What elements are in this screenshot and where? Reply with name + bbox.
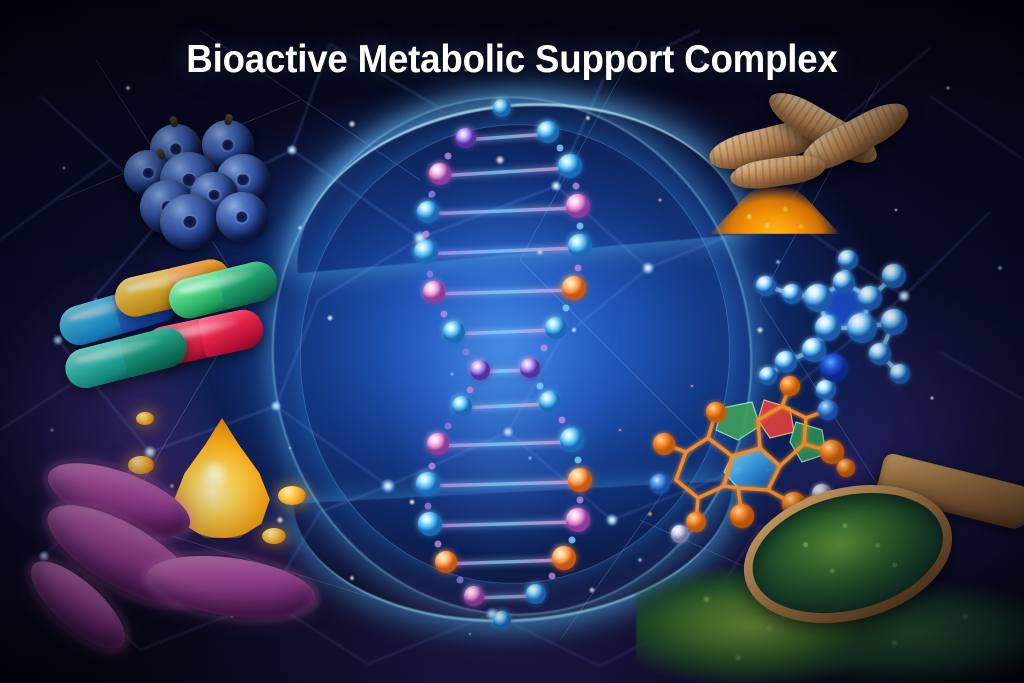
vignette-overlay [0, 0, 1024, 683]
page-title: Bioactive Metabolic Support Complex [31, 38, 994, 82]
poster-canvas: Bioactive Metabolic Support Complex [0, 0, 1024, 683]
